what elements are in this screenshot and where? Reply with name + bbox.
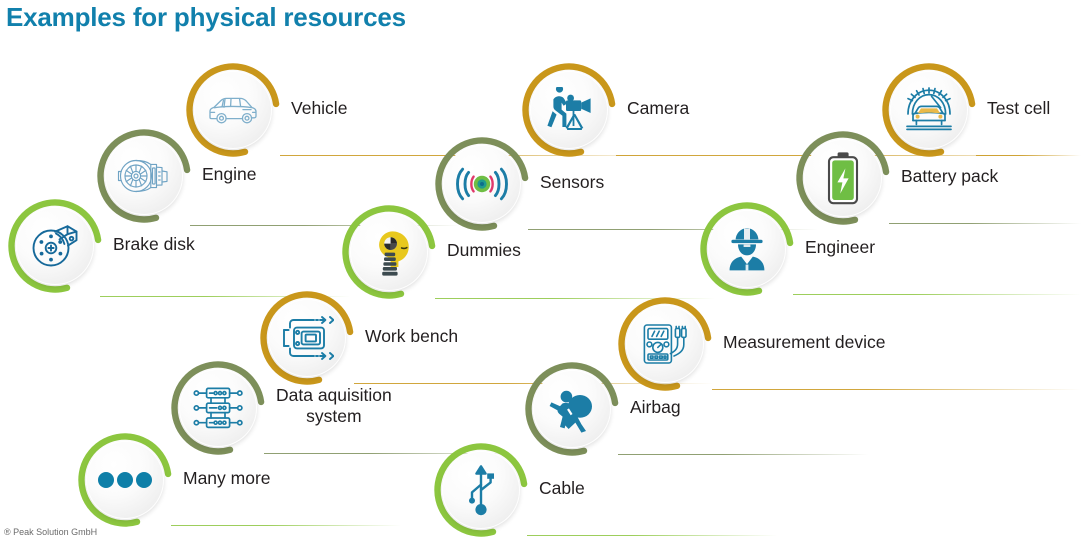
- icon-disc: [708, 210, 786, 288]
- badge-label-line1: Data aquisition: [276, 385, 392, 405]
- badge-label-work-bench: Work bench: [365, 326, 458, 347]
- connector-line: [527, 535, 777, 536]
- battery-icon: [826, 151, 860, 205]
- icon-disc: [804, 139, 882, 217]
- connector-line: [171, 525, 401, 526]
- badge-label-test-cell: Test cell: [987, 98, 1050, 119]
- dac-rack-icon: [191, 385, 245, 431]
- badge-label-measurement-device: Measurement device: [723, 332, 885, 353]
- connector-line: [712, 389, 1081, 390]
- usb-cable-icon: [461, 464, 501, 516]
- badge-label-sensors: Sensors: [540, 172, 604, 193]
- icon-disc: [442, 451, 520, 529]
- icon-disc: [268, 299, 346, 377]
- badge-label-many-more: Many more: [183, 468, 271, 489]
- badge-label-vehicle: Vehicle: [291, 98, 347, 119]
- badge-label-brake-disk: Brake disk: [113, 234, 195, 255]
- crash-dummy-icon: [365, 226, 413, 278]
- icon-disc: [350, 213, 428, 291]
- badge-label-airbag: Airbag: [630, 397, 681, 418]
- badge-label-camera: Camera: [627, 98, 689, 119]
- page-title: Examples for physical resources: [6, 2, 406, 33]
- icon-disc: [533, 370, 611, 448]
- footer-credit: ® Peak Solution GmbH: [4, 527, 97, 537]
- icon-disc: [890, 71, 968, 149]
- icon-disc: [86, 441, 164, 519]
- slide-canvas: Examples for physical resources Vehicle: [0, 0, 1081, 548]
- badge-label-engine: Engine: [202, 164, 257, 185]
- camera-icon: [545, 87, 593, 133]
- engine-icon: [116, 155, 172, 197]
- airbag-icon: [547, 385, 597, 433]
- test-cell-icon: [902, 86, 956, 134]
- badge-label-engineer: Engineer: [805, 237, 875, 258]
- icon-disc: [626, 305, 704, 383]
- icon-disc: [443, 145, 521, 223]
- connector-line: [793, 294, 1081, 295]
- badge-label-battery-pack: Battery pack: [901, 166, 998, 187]
- badge-label-cable: Cable: [539, 478, 585, 499]
- connector-line: [618, 454, 868, 455]
- icon-disc: [179, 369, 257, 447]
- ellipsis-dots-icon: [97, 471, 153, 489]
- icon-disc: [16, 207, 94, 285]
- car-icon: [207, 93, 259, 127]
- multimeter-icon: [640, 320, 690, 368]
- work-bench-icon: [280, 314, 334, 362]
- badge-label-line2: system: [276, 406, 392, 427]
- icon-disc: [105, 137, 183, 215]
- badge-label-data-aquisition: Data aquisitionsystem: [276, 385, 392, 426]
- connector-line: [889, 223, 1081, 224]
- badge-label-dummies: Dummies: [447, 240, 521, 261]
- sensor-waves-icon: [454, 164, 510, 204]
- connector-line: [976, 155, 1081, 156]
- engineer-icon: [723, 225, 771, 273]
- icon-disc: [530, 71, 608, 149]
- brake-disk-icon: [30, 223, 80, 269]
- icon-disc: [194, 71, 272, 149]
